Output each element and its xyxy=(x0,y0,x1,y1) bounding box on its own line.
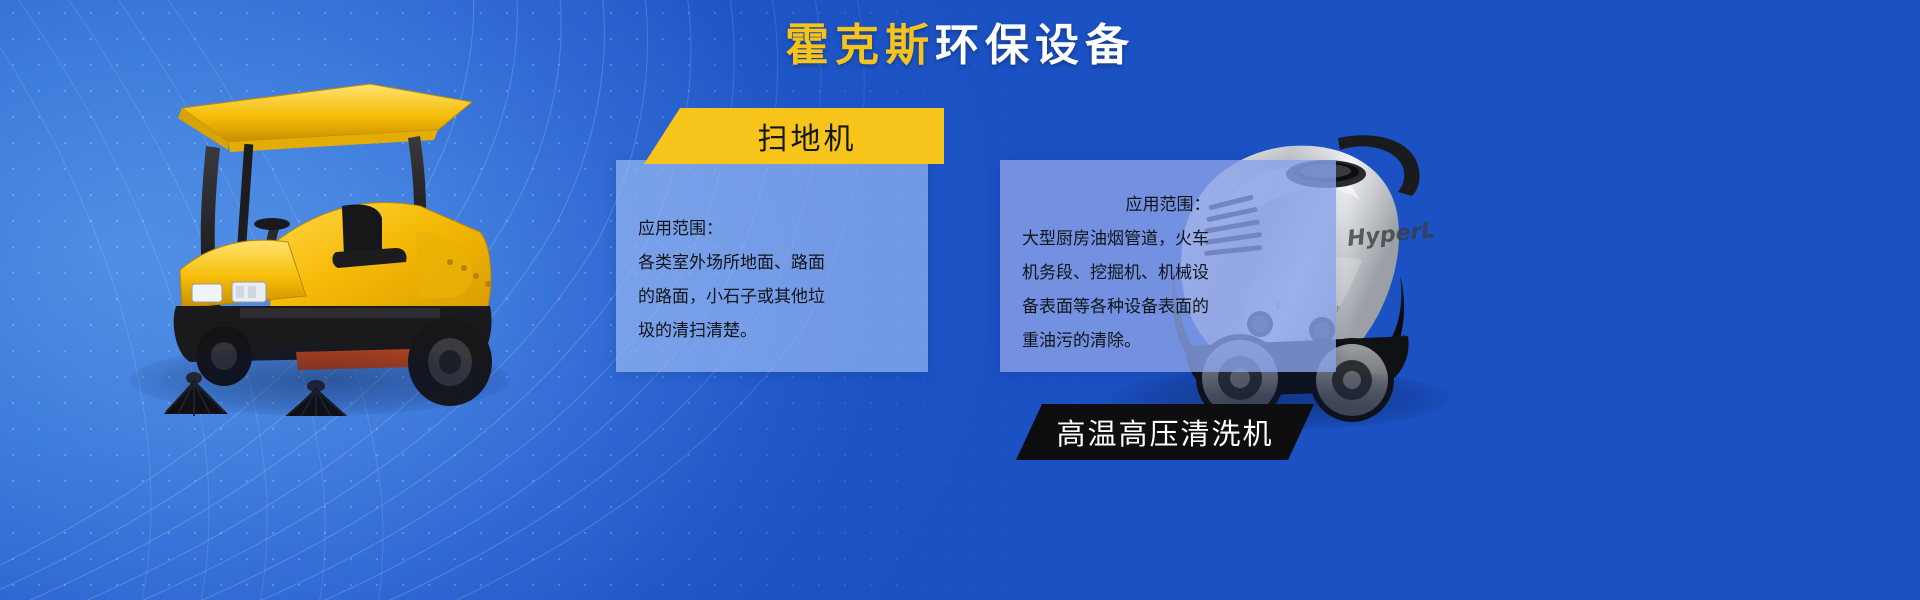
info-panel-washer: 应用范围： 大型厨房油烟管道，火车 机务段、挖掘机、机械设 备表面等各种设备表面… xyxy=(1000,160,1336,372)
product-tag-washer[interactable]: 高温高压清洗机 xyxy=(1016,404,1314,460)
scope-line: 的路面，小石子或其他垃 xyxy=(638,280,906,314)
scope-label-sweeper: 应用范围： xyxy=(638,212,906,246)
scope-label-washer: 应用范围： xyxy=(1022,188,1314,222)
scope-line: 圾的清扫清楚。 xyxy=(638,314,906,348)
scope-line: 大型厨房油烟管道，火车 xyxy=(1022,222,1314,256)
product-tag-sweeper-label: 扫地机 xyxy=(644,108,944,164)
title-suffix: 环保设备 xyxy=(935,20,1135,71)
scope-line: 机务段、挖掘机、机械设 xyxy=(1022,256,1314,290)
product-image-sweeper xyxy=(120,56,520,416)
info-panel-sweeper: 应用范围： 各类室外场所地面、路面 的路面，小石子或其他垃 圾的清扫清楚。 xyxy=(616,160,928,372)
scope-line: 各类室外场所地面、路面 xyxy=(638,246,906,280)
svg-text:F: F xyxy=(1336,305,1341,314)
info-panel-washer-body: 应用范围： 大型厨房油烟管道，火车 机务段、挖掘机、机械设 备表面等各种设备表面… xyxy=(1000,160,1336,358)
promo-banner: 霍克斯环保设备 xyxy=(0,0,1920,600)
info-panel-sweeper-body: 应用范围： 各类室外场所地面、路面 的路面，小石子或其他垃 圾的清扫清楚。 xyxy=(616,160,928,348)
scope-line: 重油污的清除。 xyxy=(1022,324,1314,358)
scope-line: 备表面等各种设备表面的 xyxy=(1022,290,1314,324)
product-tag-sweeper[interactable]: 扫地机 xyxy=(644,108,944,164)
brand-name: 霍克斯 xyxy=(785,20,935,71)
product-tag-washer-label: 高温高压清洗机 xyxy=(1016,404,1314,460)
